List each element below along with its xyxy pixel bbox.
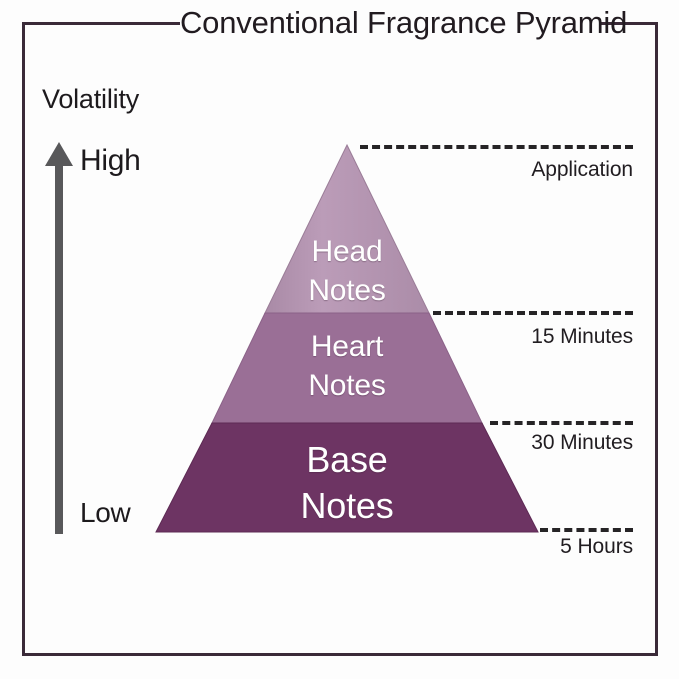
axis-label-high: High bbox=[80, 144, 141, 178]
annotation-label-30-minutes: 30 Minutes bbox=[531, 430, 633, 455]
annotation-label-5-hours: 5 Hours bbox=[560, 534, 633, 559]
leader-line-30-minutes bbox=[490, 421, 633, 425]
leader-line-application bbox=[360, 145, 633, 149]
axis-title-volatility: Volatility bbox=[42, 84, 139, 114]
pyramid-graphic bbox=[148, 138, 548, 540]
pyramid-band-heart bbox=[212, 313, 482, 423]
leader-line-15-minutes bbox=[433, 311, 633, 315]
chart-title: Conventional Fragrance Pyramid bbox=[180, 6, 600, 40]
volatility-arrow-icon bbox=[40, 140, 80, 536]
pyramid-band-base bbox=[156, 423, 538, 532]
pyramid-band-head bbox=[265, 145, 429, 313]
frame-top-left-edge bbox=[22, 22, 180, 25]
axis-label-low: Low bbox=[80, 497, 130, 529]
frame-bottom-edge bbox=[22, 653, 658, 656]
frame-right-edge bbox=[655, 22, 658, 656]
leader-line-5-hours bbox=[540, 528, 633, 532]
annotation-label-application: Application bbox=[531, 157, 633, 182]
frame-left-edge bbox=[22, 22, 25, 656]
annotation-label-15-minutes: 15 Minutes bbox=[531, 324, 633, 349]
fragrance-pyramid-figure: Conventional Fragrance Pyramid Volatilit… bbox=[0, 0, 679, 679]
